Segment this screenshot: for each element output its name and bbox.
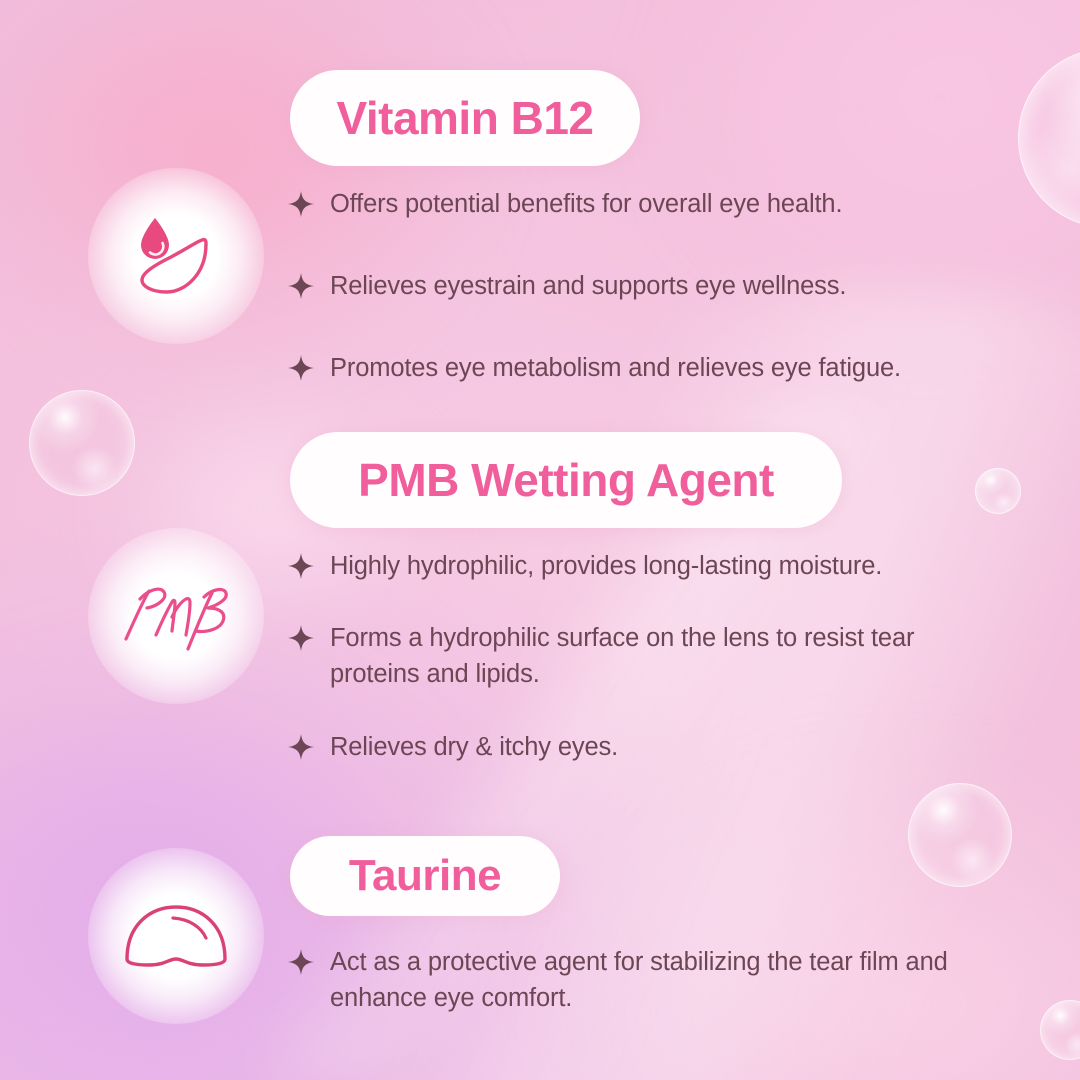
title-pill-taurine: Taurine (290, 836, 560, 916)
poster-content: Vitamin B12 Offers potential benefits fo… (0, 0, 1080, 1080)
lens-dome-icon (88, 848, 264, 1024)
section-taurine: Taurine Act as a protective agent for st… (0, 0, 1080, 1080)
lens-dome-glyph (117, 897, 235, 975)
sparkle-icon (288, 949, 314, 975)
ingredient-benefits-poster: Vitamin B12 Offers potential benefits fo… (0, 0, 1080, 1080)
section-title: Taurine (349, 851, 501, 901)
list-item: Act as a protective agent for stabilizin… (288, 944, 1008, 1016)
list-item-text: Act as a protective agent for stabilizin… (330, 944, 990, 1016)
bullet-list-taurine: Act as a protective agent for stabilizin… (288, 944, 1028, 1016)
